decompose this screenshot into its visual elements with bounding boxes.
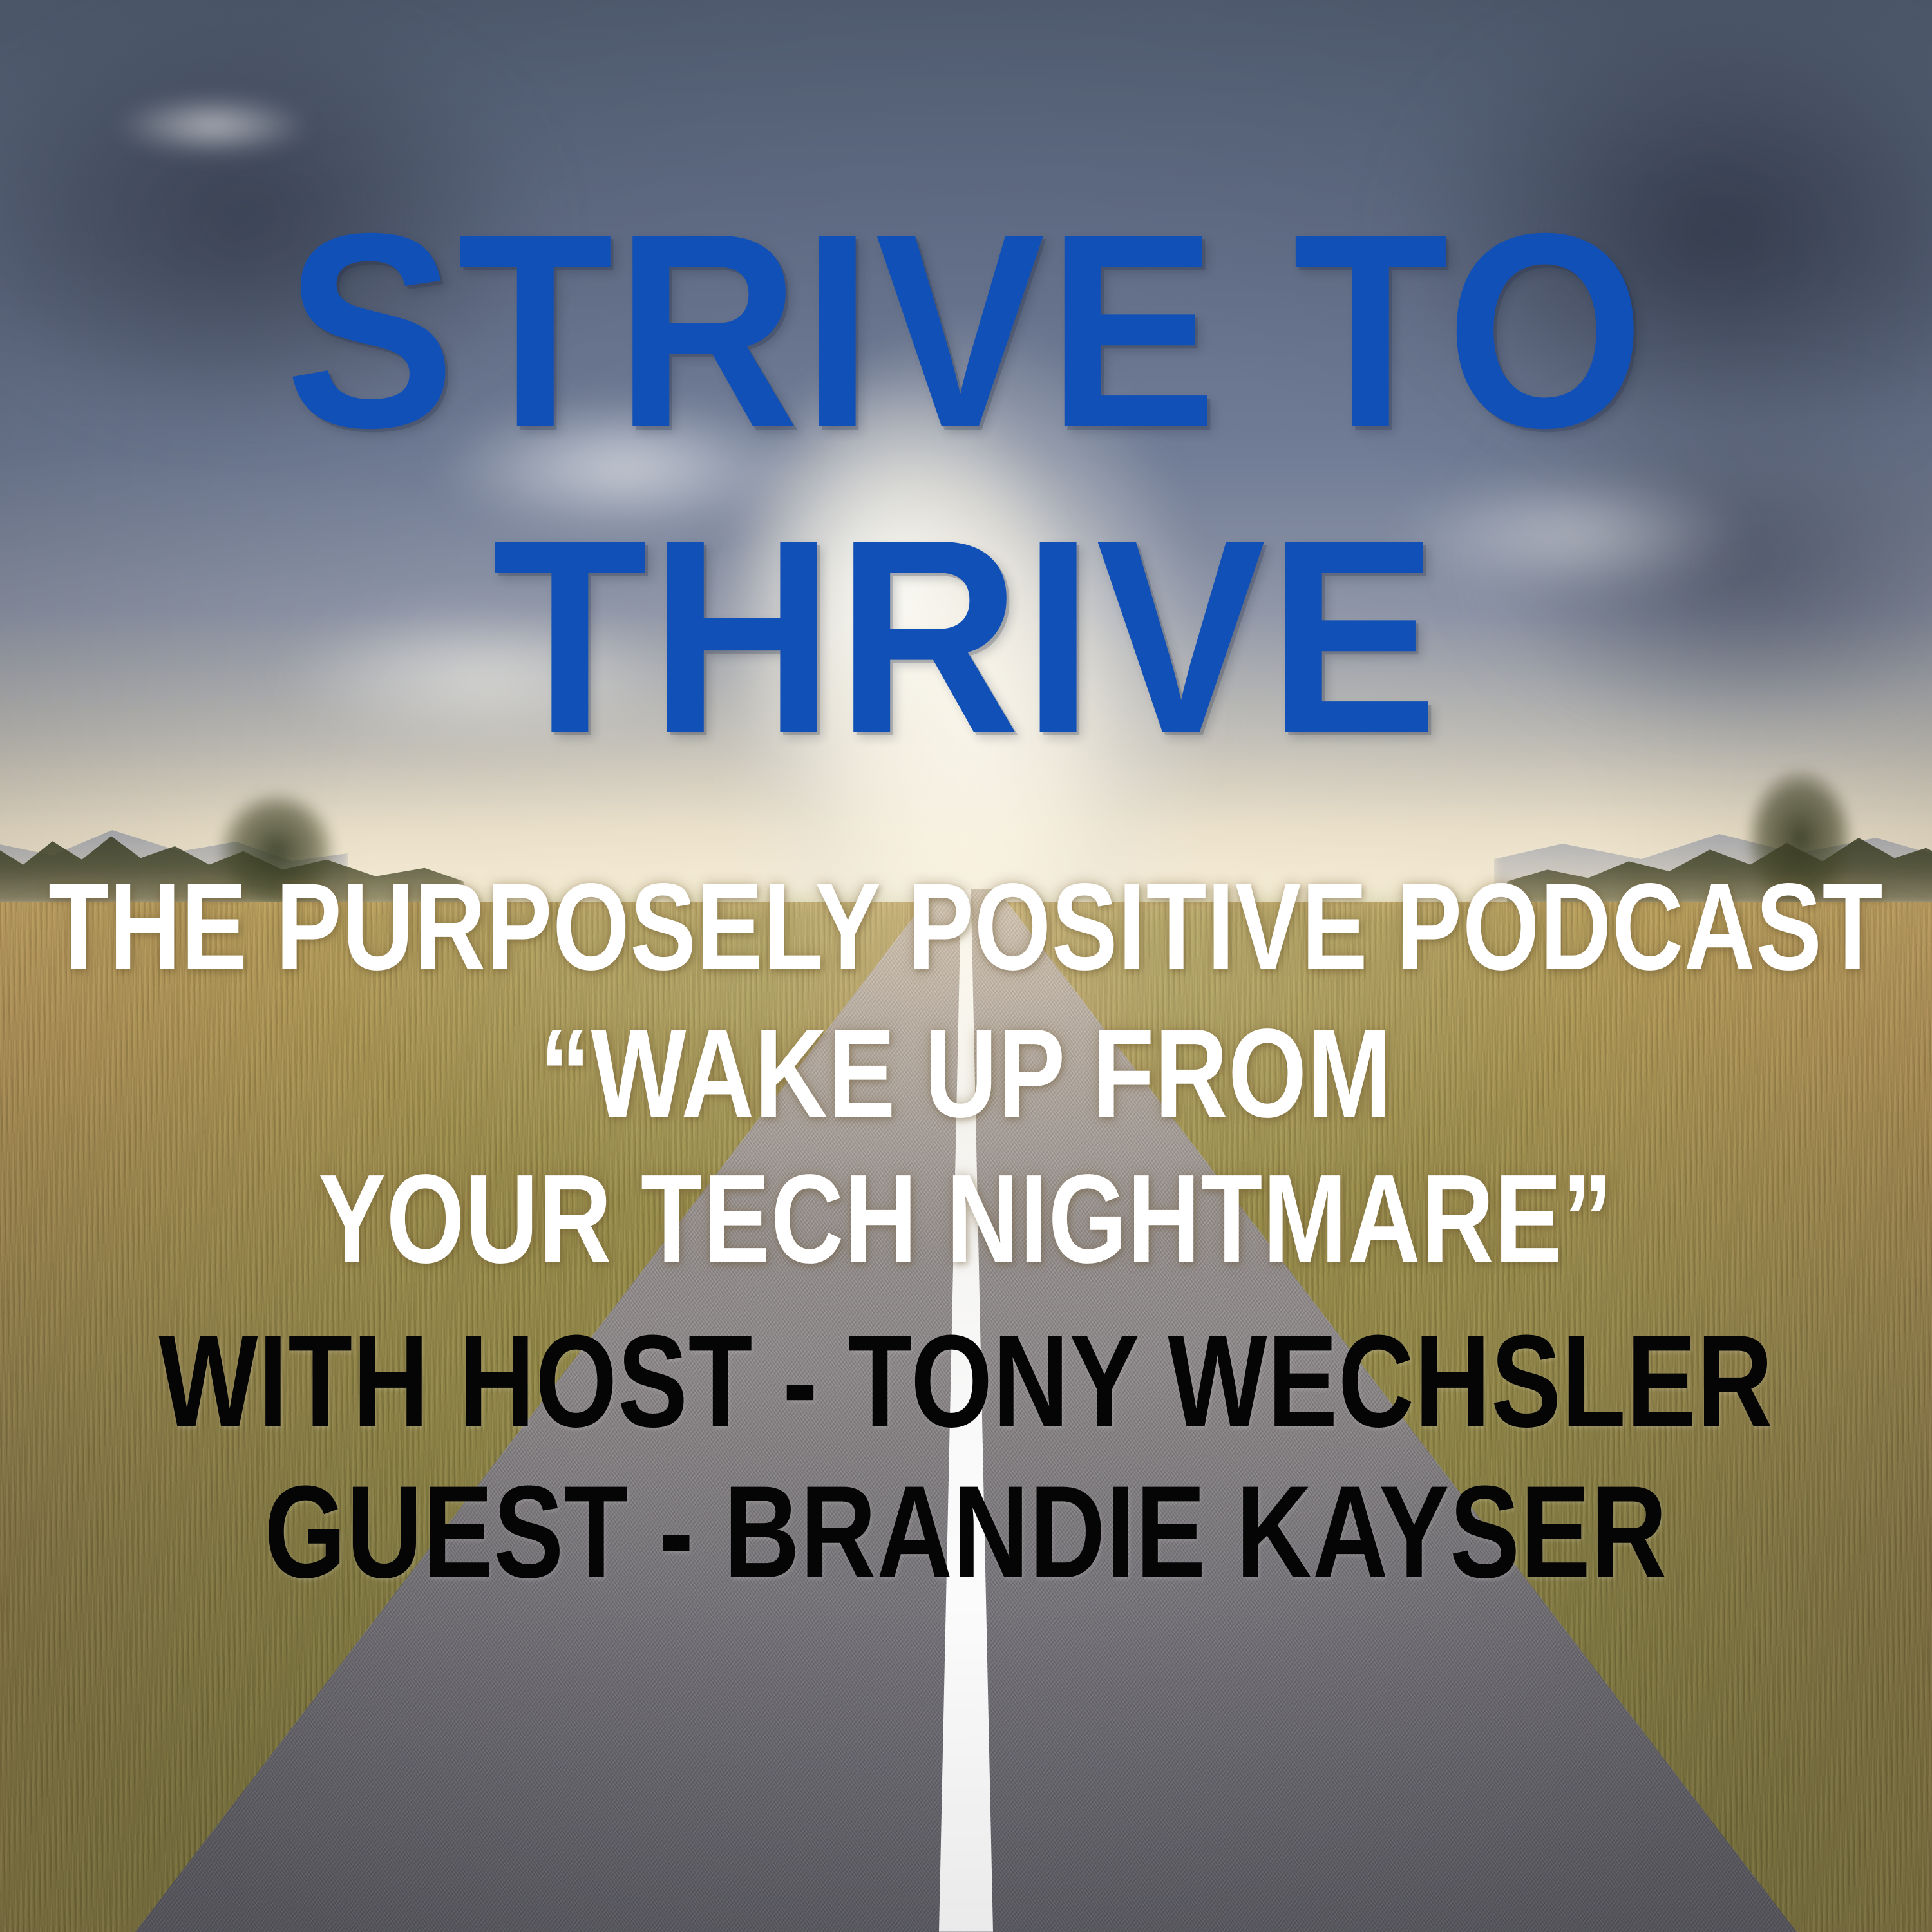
episode-title-line-1: “WAKE UP FROM bbox=[540, 1010, 1392, 1137]
text-overlay: STRIVE TO THRIVE THE PURPOSELY POSITIVE … bbox=[0, 0, 1932, 1932]
host-credit: WITH HOST - TONY WECHSLER bbox=[158, 1316, 1773, 1447]
guest-credit: GUEST - BRANDIE KAYSER bbox=[265, 1466, 1668, 1598]
podcast-cover-art: STRIVE TO THRIVE THE PURPOSELY POSITIVE … bbox=[0, 0, 1932, 1932]
show-title-line-2: THRIVE bbox=[492, 506, 1441, 769]
show-title-line-1: STRIVE TO bbox=[285, 200, 1647, 463]
podcast-tagline: THE PURPOSELY POSITIVE PODCAST bbox=[48, 865, 1883, 989]
episode-title-line-2: YOUR TECH NIGHTMARE” bbox=[319, 1156, 1614, 1282]
